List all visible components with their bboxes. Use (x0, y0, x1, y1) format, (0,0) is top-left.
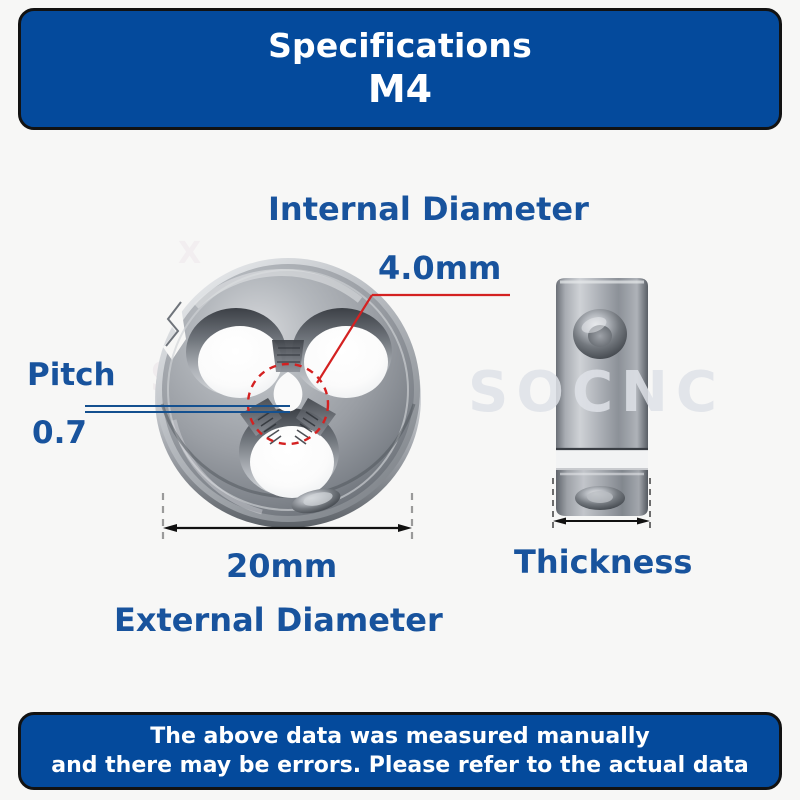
watermark-socnc: SOCNC (468, 360, 725, 425)
specifications-banner: Specifications M4 (18, 8, 782, 130)
specifications-title: Specifications (268, 27, 532, 65)
side-view-lower-dimple (575, 486, 625, 510)
internal-diameter-value: 4.0mm (378, 249, 501, 287)
side-view-upper-dimple (573, 309, 627, 359)
internal-diameter-label: Internal Diameter (268, 190, 589, 228)
side-view-split-gap (556, 448, 648, 470)
specifications-model: M4 (368, 67, 432, 111)
external-diameter-value: 20mm (226, 547, 337, 585)
product-spec-image: X SOCNC (0, 0, 800, 800)
disclaimer-line-2: and there may be errors. Please refer to… (51, 751, 749, 780)
disclaimer-line-1: The above data was measured manually (150, 722, 649, 751)
external-diameter-label: External Diameter (114, 601, 443, 639)
thickness-label: Thickness (514, 543, 692, 581)
disclaimer-banner: The above data was measured manually and… (18, 712, 782, 790)
pitch-value: 0.7 (32, 415, 87, 451)
pitch-label: Pitch (27, 357, 116, 393)
die-top-view (155, 258, 421, 528)
